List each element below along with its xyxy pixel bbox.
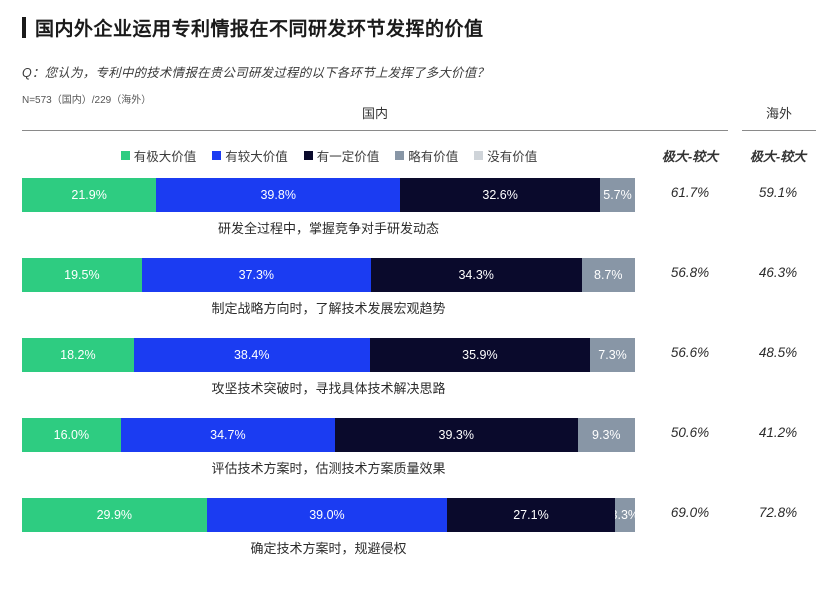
bar-segment[interactable]: 27.1% <box>447 498 614 532</box>
divider-domestic <box>22 130 728 131</box>
divider-overseas <box>742 130 816 131</box>
stacked-bar: 19.5%37.3%34.3%8.7% <box>22 258 635 292</box>
domestic-topbox-value: 69.0% <box>648 505 732 520</box>
column-header-domestic-topbox: 极大-较大 <box>648 146 732 165</box>
stacked-bar: 16.0%34.7%39.3%9.3% <box>22 418 635 452</box>
overseas-topbox-value: 48.5% <box>736 345 820 360</box>
legend-label: 有一定价值 <box>317 146 380 165</box>
bar-segment-value: 34.7% <box>210 428 245 442</box>
bar-segment-value: 5.7% <box>603 188 632 202</box>
legend-label: 没有价值 <box>487 146 537 165</box>
domestic-topbox-value: 56.8% <box>648 265 732 280</box>
bar-segment-value: 18.2% <box>60 348 95 362</box>
bar-segment[interactable]: 35.9% <box>370 338 591 372</box>
page-title: 国内外企业运用专利情报在不同研发环节发挥的价值 <box>22 14 484 41</box>
legend-item[interactable]: 没有价值 <box>474 146 537 165</box>
legend-swatch-icon <box>474 151 483 160</box>
bar-segment[interactable]: 39.8% <box>156 178 400 212</box>
overseas-topbox-value: 72.8% <box>736 505 820 520</box>
bar-segment[interactable]: 8.7% <box>582 258 635 292</box>
bar-segment[interactable]: 21.9% <box>22 178 156 212</box>
bar-segment[interactable]: 39.3% <box>335 418 578 452</box>
bar-segment[interactable]: 32.6% <box>400 178 600 212</box>
bar-segment-value: 3.3% <box>615 508 635 522</box>
domestic-topbox-value: 61.7% <box>648 185 732 200</box>
bar-segment-value: 32.6% <box>482 188 517 202</box>
category-label: 研发全过程中，掌握竞争对手研发动态 <box>22 218 635 237</box>
category-label: 确定技术方案时，规避侵权 <box>22 538 635 557</box>
bar-segment[interactable]: 38.4% <box>134 338 370 372</box>
chart-legend: 有极大价值有较大价值有一定价值略有价值没有价值 <box>22 146 636 165</box>
bar-segment[interactable]: 3.3% <box>615 498 635 532</box>
bar-segment-value: 39.3% <box>439 428 474 442</box>
bar-segment[interactable]: 19.5% <box>22 258 142 292</box>
bar-segment[interactable]: 18.2% <box>22 338 134 372</box>
bar-segment-value: 39.0% <box>309 508 344 522</box>
bar-segment-value: 29.9% <box>97 508 132 522</box>
group-header-domestic: 国内 <box>22 103 728 122</box>
bar-segment-value: 35.9% <box>462 348 497 362</box>
domestic-topbox-value: 56.6% <box>648 345 732 360</box>
bar-segment[interactable]: 5.7% <box>600 178 635 212</box>
overseas-topbox-value: 59.1% <box>736 185 820 200</box>
chart-row: 19.5%37.3%34.3%8.7%制定战略方向时，了解技术发展宏观趋势56.… <box>0 258 832 338</box>
bar-segment[interactable]: 7.3% <box>590 338 635 372</box>
bar-segment-value: 8.7% <box>594 268 623 282</box>
category-label: 评估技术方案时，估测技术方案质量效果 <box>22 458 635 477</box>
title-text: 国内外企业运用专利情报在不同研发环节发挥的价值 <box>35 14 484 41</box>
stacked-bar: 18.2%38.4%35.9%7.3% <box>22 338 635 372</box>
bar-segment-value: 16.0% <box>54 428 89 442</box>
overseas-topbox-value: 46.3% <box>736 265 820 280</box>
bar-segment-value: 9.3% <box>592 428 621 442</box>
legend-label: 略有价值 <box>408 146 458 165</box>
title-accent-bar <box>22 17 26 38</box>
bar-segment-value: 27.1% <box>513 508 548 522</box>
bar-segment[interactable]: 39.0% <box>207 498 448 532</box>
group-header-overseas: 海外 <box>742 103 816 122</box>
legend-label: 有较大价值 <box>225 146 288 165</box>
column-header-overseas-topbox: 极大-较大 <box>736 146 820 165</box>
chart-row: 18.2%38.4%35.9%7.3%攻坚技术突破时，寻找具体技术解决思路56.… <box>0 338 832 418</box>
bar-segment-value: 7.3% <box>598 348 627 362</box>
legend-swatch-icon <box>212 151 221 160</box>
bar-segment[interactable]: 34.7% <box>121 418 335 452</box>
bar-segment-value: 39.8% <box>260 188 295 202</box>
category-label: 制定战略方向时，了解技术发展宏观趋势 <box>22 298 635 317</box>
legend-label: 有极大价值 <box>134 146 197 165</box>
overseas-topbox-value: 41.2% <box>736 425 820 440</box>
bar-segment[interactable]: 37.3% <box>142 258 371 292</box>
stacked-bar: 21.9%39.8%32.6%5.7% <box>22 178 635 212</box>
bar-segment-value: 37.3% <box>239 268 274 282</box>
bar-segment[interactable]: 29.9% <box>22 498 207 532</box>
chart-row: 29.9%39.0%27.1%3.3%确定技术方案时，规避侵权69.0%72.8… <box>0 498 832 578</box>
bar-segment[interactable]: 9.3% <box>578 418 635 452</box>
bar-segment-value: 38.4% <box>234 348 269 362</box>
chart-rows: 21.9%39.8%32.6%5.7%研发全过程中，掌握竞争对手研发动态61.7… <box>0 178 832 578</box>
legend-swatch-icon <box>121 151 130 160</box>
stacked-bar: 29.9%39.0%27.1%3.3% <box>22 498 635 532</box>
legend-item[interactable]: 有较大价值 <box>212 146 288 165</box>
chart-row: 16.0%34.7%39.3%9.3%评估技术方案时，估测技术方案质量效果50.… <box>0 418 832 498</box>
bar-segment-value: 34.3% <box>458 268 493 282</box>
legend-item[interactable]: 有极大价值 <box>121 146 197 165</box>
bar-segment[interactable]: 34.3% <box>371 258 582 292</box>
bar-segment[interactable]: 16.0% <box>22 418 121 452</box>
category-label: 攻坚技术突破时，寻找具体技术解决思路 <box>22 378 635 397</box>
legend-swatch-icon <box>395 151 404 160</box>
bar-segment-value: 21.9% <box>71 188 106 202</box>
bar-segment-value: 19.5% <box>64 268 99 282</box>
domestic-topbox-value: 50.6% <box>648 425 732 440</box>
legend-item[interactable]: 有一定价值 <box>304 146 380 165</box>
legend-swatch-icon <box>304 151 313 160</box>
legend-item[interactable]: 略有价值 <box>395 146 458 165</box>
chart-row: 21.9%39.8%32.6%5.7%研发全过程中，掌握竞争对手研发动态61.7… <box>0 178 832 258</box>
survey-question: Q：您认为，专利中的技术情报在贵公司研发过程的以下各环节上发挥了多大价值？ <box>22 62 489 81</box>
